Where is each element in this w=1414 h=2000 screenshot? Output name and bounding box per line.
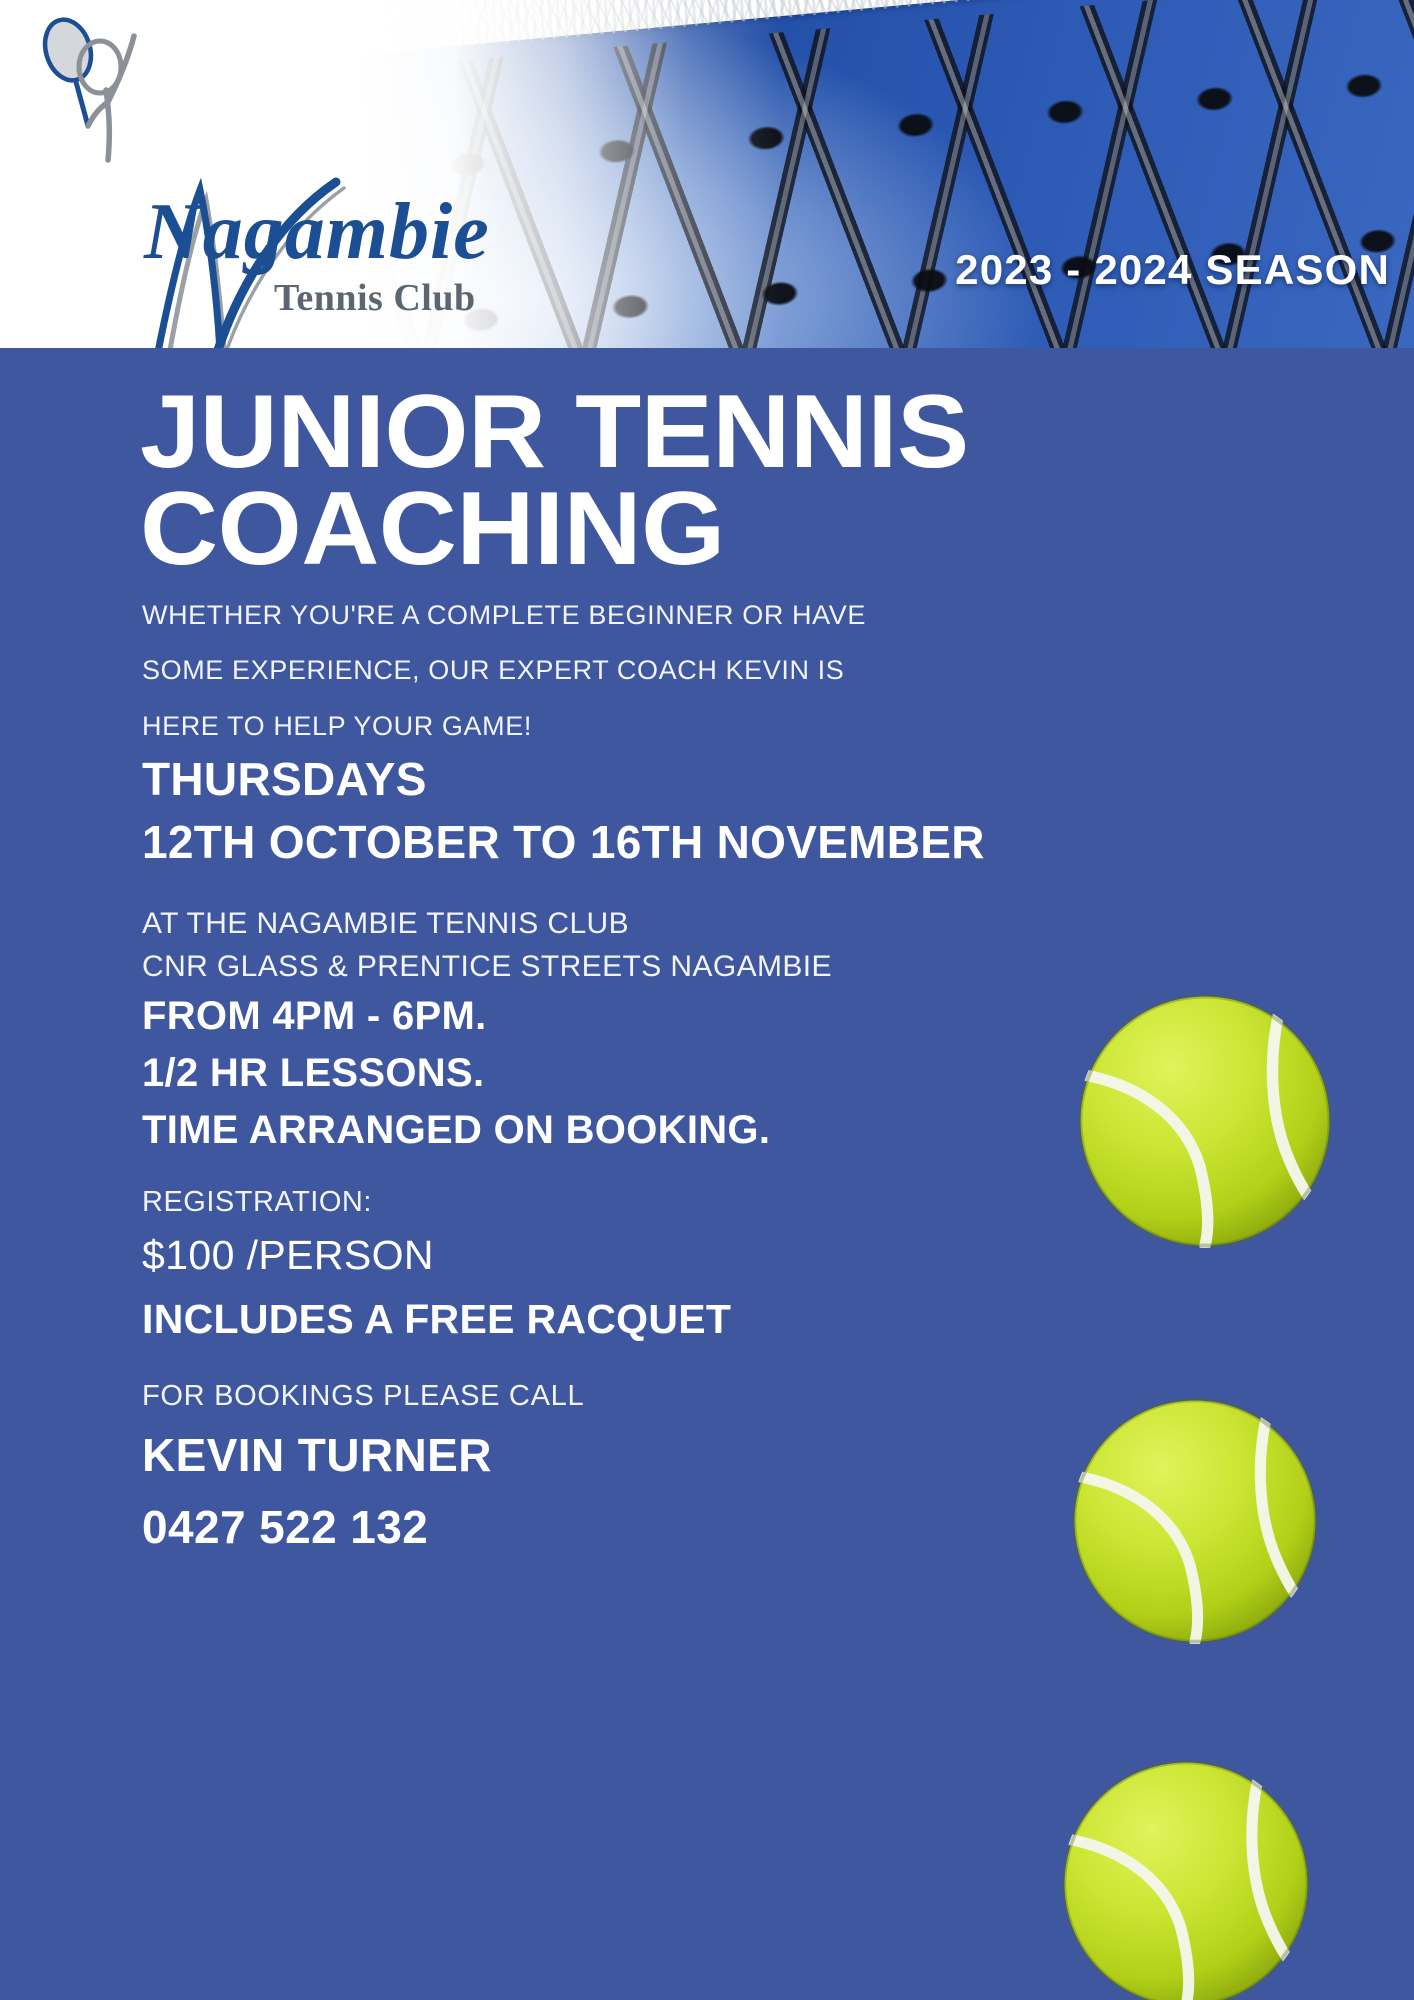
poster-root: Nagambie Tennis Club 2023 - 2024 SEASON … [0, 0, 1414, 2000]
bookings-label: FOR BOOKINGS PLEASE CALL [142, 1380, 584, 1413]
schedule-block: THURSDAYS 12TH OCTOBER TO 16TH NOVEMBER [142, 748, 1142, 875]
bookings-phone-number: 0427 522 132 [142, 1500, 428, 1554]
tennis-ball-icon [1062, 1760, 1310, 2000]
logo-club-subtitle: Tennis Club [274, 276, 476, 320]
poster-body: JUNIOR TENNIS COACHING WHETHER YOU'RE A … [0, 348, 1414, 2000]
season-label: 2023 - 2024 SEASON [955, 246, 1390, 294]
times-block: FROM 4PM - 6PM. 1/2 HR LESSONS. TIME ARR… [142, 988, 1042, 1158]
times-hours: FROM 4PM - 6PM. [142, 988, 1042, 1045]
times-lesson-length: 1/2 HR LESSONS. [142, 1045, 1042, 1102]
times-booking-note: TIME ARRANGED ON BOOKING. [142, 1102, 1042, 1159]
venue-block: AT THE NAGAMBIE TENNIS CLUB CNR GLASS & … [142, 903, 1042, 988]
page-title: JUNIOR TENNIS COACHING [140, 384, 1253, 577]
venue-line-2: CNR GLASS & PRENTICE STREETS NAGAMBIE [142, 946, 1042, 989]
poster-header: Nagambie Tennis Club 2023 - 2024 SEASON [0, 0, 1414, 348]
registration-price: $100 /PERSON [142, 1232, 434, 1279]
tennis-ball-icon [1078, 994, 1332, 1248]
schedule-day: THURSDAYS [142, 748, 1142, 811]
schedule-dates: 12TH OCTOBER TO 16TH NOVEMBER [142, 811, 1142, 874]
bookings-contact-name: KEVIN TURNER [142, 1428, 492, 1482]
registration-includes: INCLUDES A FREE RACQUET [142, 1296, 731, 1343]
venue-line-1: AT THE NAGAMBIE TENNIS CLUB [142, 903, 1042, 946]
tennis-ball-icon [1072, 1398, 1318, 1644]
registration-label: REGISTRATION: [142, 1186, 372, 1219]
logo-club-name: Nagambie [144, 192, 490, 272]
intro-paragraph: WHETHER YOU'RE A COMPLETE BEGINNER OR HA… [142, 588, 877, 754]
club-logo: Nagambie Tennis Club [26, 14, 546, 334]
